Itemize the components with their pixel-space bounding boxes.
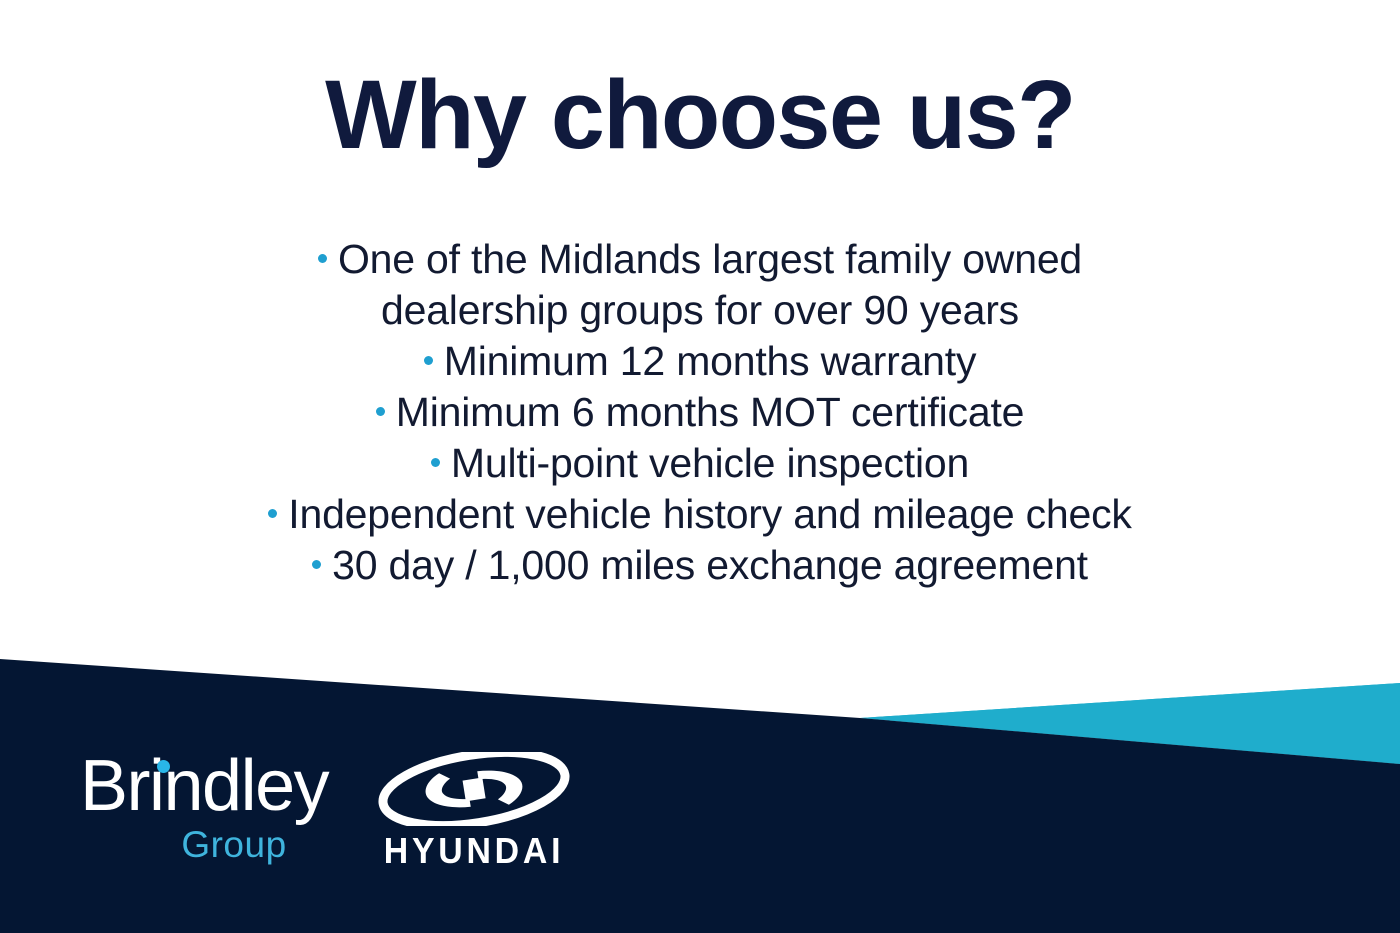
hyundai-logo: HYUNDAI [368,752,580,874]
list-item: 30 day / 1,000 miles exchange agreement [0,540,1400,591]
list-item-label: Minimum 12 months warranty [444,338,977,384]
list-item-label: Independent vehicle history and mileage … [288,491,1131,537]
list-item: One of the Midlands largest family owned [0,234,1400,285]
benefits-list: One of the Midlands largest family owned… [0,234,1400,591]
hyundai-emblem-icon [376,752,572,826]
list-item: Multi-point vehicle inspection [0,438,1400,489]
list-item: Minimum 6 months MOT certificate [0,387,1400,438]
hyundai-wordmark: HYUNDAI [374,832,573,870]
list-item: Independent vehicle history and mileage … [0,489,1400,540]
list-item-label: One of the Midlands largest family owned [338,236,1082,282]
bullet-dot-icon [431,458,440,467]
bullet-dot-icon [268,509,277,518]
list-item-label: dealership groups for over 90 years [381,287,1019,333]
bullet-dot-icon [312,560,321,569]
brindley-i-dot-icon [157,760,170,773]
list-item-label: 30 day / 1,000 miles exchange agreement [332,542,1088,588]
bullet-dot-icon [318,254,327,263]
slide-canvas: Why choose us? One of the Midlands large… [0,0,1400,933]
list-item-label: Minimum 6 months MOT certificate [396,389,1025,435]
page-title: Why choose us? [0,66,1400,165]
list-item-label: Multi-point vehicle inspection [451,440,969,486]
brindley-wordmark: Brindley [76,748,346,824]
list-item-continuation: dealership groups for over 90 years [0,285,1400,336]
brindley-group-logo: Brindley Group [76,748,346,876]
list-item: Minimum 12 months warranty [0,336,1400,387]
brindley-subtitle: Group [76,824,346,866]
bullet-dot-icon [376,407,385,416]
hyundai-emblem-svg [376,752,572,826]
bullet-dot-icon [424,356,433,365]
brindley-wordmark-text: Brindley [80,746,328,826]
